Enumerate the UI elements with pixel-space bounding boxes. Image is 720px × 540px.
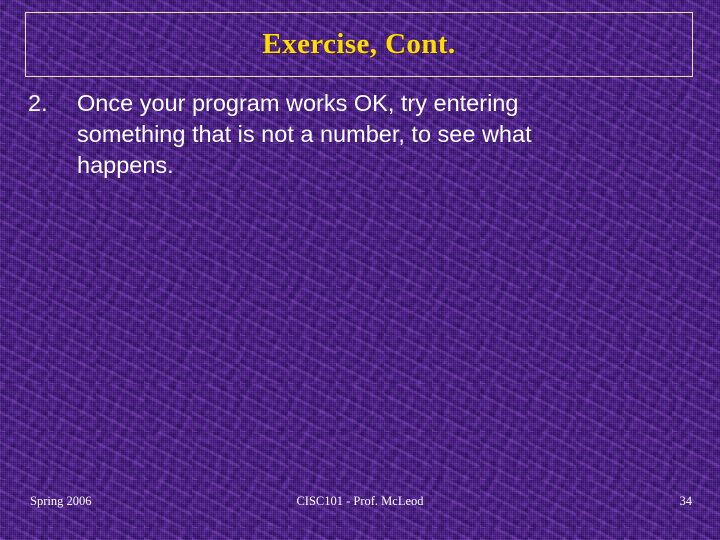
footer-slide-number: 34 bbox=[680, 494, 693, 509]
slide-footer: Spring 2006 CISC101 - Prof. McLeod 34 bbox=[0, 492, 720, 514]
title-box: Exercise, Cont. bbox=[25, 12, 693, 77]
list-item: 2. Once your program works OK, try enter… bbox=[28, 88, 628, 181]
list-item-marker: 2. bbox=[28, 88, 77, 119]
body-content: 2. Once your program works OK, try enter… bbox=[28, 88, 628, 181]
list-item-text: Once your program works OK, try entering… bbox=[77, 88, 628, 181]
slide-title: Exercise, Cont. bbox=[262, 28, 455, 61]
slide: Exercise, Cont. 2. Once your program wor… bbox=[0, 0, 720, 540]
slide-content: Exercise, Cont. 2. Once your program wor… bbox=[0, 0, 720, 540]
footer-course-info: CISC101 - Prof. McLeod bbox=[0, 494, 720, 509]
